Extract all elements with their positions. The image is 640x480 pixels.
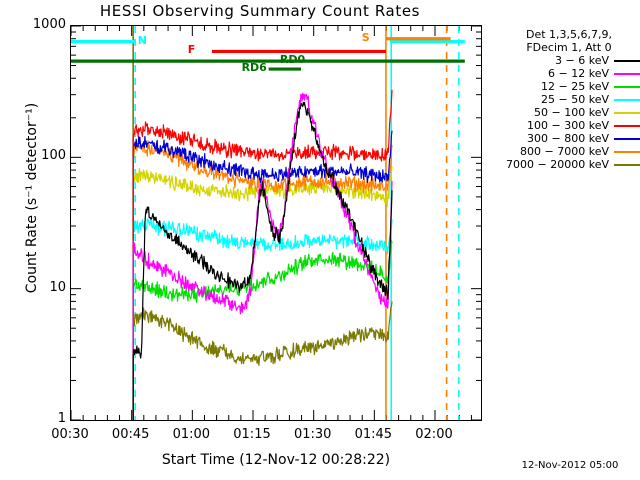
- series-25-50-kev: [133, 219, 392, 421]
- series-50-100-kev: [133, 167, 392, 420]
- x-tick-label: 01:45: [343, 427, 403, 442]
- legend-entry-label: 6 − 12 keV: [548, 67, 609, 80]
- legend-entry-label: 50 − 100 keV: [534, 106, 609, 119]
- generation-timestamp: 12-Nov-2012 05:00: [500, 460, 640, 471]
- series-6-12-kev: [133, 93, 392, 420]
- series-100-300-kev: [133, 90, 392, 420]
- x-tick-label: 01:00: [161, 427, 221, 442]
- legend-entry: 6 − 12 keV: [498, 67, 640, 80]
- legend-entry-label: 25 − 50 keV: [541, 93, 609, 106]
- legend-entry: 12 − 25 keV: [498, 80, 640, 93]
- y-tick-label: 1: [0, 411, 66, 426]
- x-tick-label: 02:00: [404, 427, 464, 442]
- legend-entry-label: 7000 − 20000 keV: [506, 158, 609, 171]
- legend-header-decim: FDecim 1, Att 0: [498, 41, 640, 54]
- legend-entry: 50 − 100 keV: [498, 106, 640, 119]
- legend-color-swatch: [614, 86, 640, 88]
- chart-page: HESSI Observing Summary Count Rates 1000…: [0, 0, 640, 480]
- legend-entry-label: 800 − 7000 keV: [520, 145, 609, 158]
- legend-color-swatch: [614, 125, 640, 127]
- legend-color-swatch: [614, 151, 640, 153]
- legend-entry-label: 3 − 6 keV: [555, 54, 609, 67]
- legend-entry: 25 − 50 keV: [498, 93, 640, 106]
- legend-entry: 3 − 6 keV: [498, 54, 640, 67]
- x-axis-label: Start Time (12-Nov-12 00:28:22): [70, 452, 482, 468]
- legend-header-detectors: Det 1,3,5,6,7,9,: [498, 28, 640, 41]
- legend-color-swatch: [614, 112, 640, 114]
- legend-color-swatch: [614, 73, 640, 75]
- flag-label-n: N: [138, 34, 147, 47]
- legend: Det 1,3,5,6,7,9, FDecim 1, Att 0 3 − 6 k…: [498, 28, 640, 171]
- legend-color-swatch: [614, 60, 640, 62]
- flag-label-f: F: [188, 43, 196, 56]
- x-tick-label: 00:30: [40, 427, 100, 442]
- legend-entry: 100 − 300 keV: [498, 119, 640, 132]
- plot-svg: [71, 26, 481, 420]
- x-tick-label: 01:15: [222, 427, 282, 442]
- flag-label-rd6: RD6: [242, 61, 267, 74]
- legend-entry-label: 12 − 25 keV: [541, 80, 609, 93]
- plot-frame: [70, 25, 482, 421]
- legend-entry: 800 − 7000 keV: [498, 145, 640, 158]
- legend-entry-label: 100 − 300 keV: [527, 119, 609, 132]
- x-tick-label: 00:45: [101, 427, 161, 442]
- legend-entries: 3 − 6 keV6 − 12 keV12 − 25 keV25 − 50 ke…: [498, 54, 640, 171]
- legend-color-swatch: [614, 164, 640, 166]
- flag-label-s: S: [362, 31, 370, 44]
- legend-color-swatch: [614, 138, 640, 140]
- series-12-25-kev: [133, 240, 392, 420]
- legend-color-swatch: [614, 99, 640, 101]
- legend-entry-label: 300 − 800 keV: [527, 132, 609, 145]
- legend-entry: 7000 − 20000 keV: [498, 158, 640, 171]
- page-title: HESSI Observing Summary Count Rates: [0, 2, 520, 20]
- series-7000-20000-kev: [133, 302, 392, 420]
- flag-label-rd0: RD0: [280, 53, 305, 66]
- plot-area: [71, 26, 481, 420]
- y-axis-label: Count Rate (s⁻¹ detector⁻¹): [24, 0, 40, 398]
- legend-entry: 300 − 800 keV: [498, 132, 640, 145]
- x-tick-label: 01:30: [283, 427, 343, 442]
